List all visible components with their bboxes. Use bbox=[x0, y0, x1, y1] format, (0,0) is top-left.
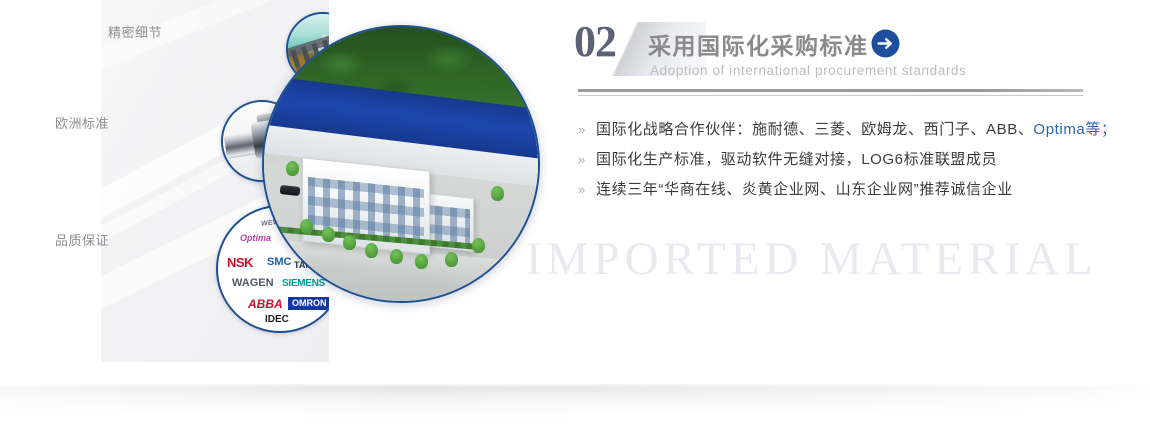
logo-idec: IDEC bbox=[265, 315, 289, 325]
watermark-text: IMPORTED MATERIAL bbox=[526, 232, 1098, 286]
list-item-text: 连续三年“华商在线、炎黄企业网、山东企业网”推荐诚信企业 bbox=[596, 178, 1013, 199]
page-subtitle: Adoption of international procurement st… bbox=[650, 63, 966, 78]
label-quality-assurance: 品质保证 bbox=[55, 230, 109, 249]
right-content-panel: 02 采用国际化采购标准 Adoption of international p… bbox=[574, 0, 1150, 430]
tree bbox=[322, 227, 335, 242]
tree bbox=[286, 161, 299, 176]
list-item-text-post: ； bbox=[1101, 121, 1117, 138]
divider-thick bbox=[578, 89, 1083, 92]
list-item: » 国际化生产标准，驱动软件无缝对接，LOG6标准联盟成员 bbox=[578, 148, 1138, 178]
parked-car bbox=[280, 185, 301, 196]
factory-building-image bbox=[262, 25, 540, 303]
label-precision-detail: 精密细节 bbox=[108, 22, 162, 41]
logo-smc-mark bbox=[217, 205, 237, 219]
divider-thin bbox=[578, 95, 1083, 96]
list-item-text: 国际化生产标准，驱动软件无缝对接，LOG6标准联盟成员 bbox=[596, 148, 997, 169]
page-root: WEWARE SKF Optima ABB NSK SMC TAIJING WA… bbox=[0, 0, 1150, 430]
list-item: » 连续三年“华商在线、炎黄企业网、山东企业网”推荐诚信企业 bbox=[578, 178, 1138, 208]
list-item-highlight: Optima等 bbox=[1033, 121, 1101, 138]
feature-bullet-list: » 国际化战略合作伙伴：施耐德、三菱、欧姆龙、西门子、ABB、Optima等； … bbox=[578, 118, 1138, 208]
logo-idec-mark bbox=[218, 217, 222, 228]
section-number: 02 bbox=[574, 20, 616, 64]
chevron-double-right-icon: » bbox=[578, 123, 596, 136]
tree bbox=[300, 219, 313, 234]
tree bbox=[472, 238, 485, 253]
chevron-double-right-icon: » bbox=[578, 153, 596, 166]
arrow-right-circle-icon[interactable] bbox=[871, 29, 900, 58]
tree bbox=[445, 252, 458, 267]
label-european-standard: 欧洲标准 bbox=[55, 113, 109, 132]
list-item-text-pre: 国际化战略合作伙伴：施耐德、三菱、欧姆龙、西门子、ABB、 bbox=[596, 121, 1033, 138]
tree bbox=[491, 186, 504, 201]
list-item-text: 国际化战略合作伙伴：施耐德、三菱、欧姆龙、西门子、ABB、Optima等； bbox=[596, 118, 1117, 139]
chevron-double-right-icon: » bbox=[578, 183, 596, 196]
tree bbox=[390, 249, 403, 264]
page-title: 采用国际化采购标准 bbox=[648, 27, 869, 61]
tree bbox=[415, 254, 428, 269]
logo-nsk: NSK bbox=[227, 256, 253, 269]
list-item: » 国际化战略合作伙伴：施耐德、三菱、欧姆龙、西门子、ABB、Optima等； bbox=[578, 118, 1138, 148]
